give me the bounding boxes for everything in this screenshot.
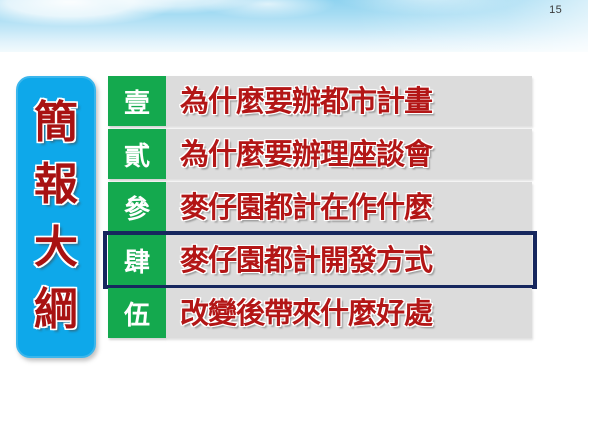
outline-row-list: 壹 為什麼要辦都市計畫 貳 為什麼要辦理座談會 參 麥仔園都計在作什麼 肆 麥仔… [108, 76, 532, 338]
outline-row-title: 改變後帶來什麼好處 [166, 288, 532, 338]
outline-row-number: 壹 [108, 76, 166, 126]
outline-title-char-2: 報 [34, 163, 78, 208]
outline-row-number: 伍 [108, 288, 166, 338]
outline-row-number: 肆 [108, 235, 166, 285]
outline-row-number: 參 [108, 182, 166, 232]
outline-row[interactable]: 伍 改變後帶來什麼好處 [108, 288, 532, 338]
outline-row-title-text: 麥仔園都計在作什麼 [180, 193, 432, 222]
outline-title-char-3: 大 [34, 226, 78, 271]
banner-fade-overlay [0, 0, 588, 52]
outline-title-char-4: 綱 [34, 288, 78, 333]
outline-row-title-text: 為什麼要辦都市計畫 [180, 87, 432, 116]
page-number: 15 [549, 4, 562, 16]
outline-row-number: 貳 [108, 129, 166, 179]
outline-row-title-text: 麥仔園都計開發方式 [180, 246, 432, 275]
outline-row-highlighted[interactable]: 肆 麥仔園都計開發方式 [108, 235, 532, 285]
outline-row[interactable]: 貳 為什麼要辦理座談會 [108, 129, 532, 179]
outline-title-text: 簡 報 大 綱 [34, 84, 78, 350]
outline-row-title-text: 改變後帶來什麼好處 [180, 299, 432, 328]
outline-title-pill: 簡 報 大 綱 [16, 76, 96, 358]
outline-row[interactable]: 參 麥仔園都計在作什麼 [108, 182, 532, 232]
outline-row-title: 麥仔園都計在作什麼 [166, 182, 532, 232]
outline-row-title: 為什麼要辦理座談會 [166, 129, 532, 179]
slide-canvas: 15 簡 報 大 綱 壹 為什麼要辦都市計畫 貳 為什麼要辦理座談會 參 麥仔園… [0, 0, 600, 424]
outline-title-char-1: 簡 [34, 101, 78, 146]
outline-row-title: 麥仔園都計開發方式 [166, 235, 532, 285]
outline-row-title: 為什麼要辦都市計畫 [166, 76, 532, 126]
outline-row[interactable]: 壹 為什麼要辦都市計畫 [108, 76, 532, 126]
outline-row-title-text: 為什麼要辦理座談會 [180, 140, 432, 169]
sky-clouds-banner [0, 0, 588, 52]
